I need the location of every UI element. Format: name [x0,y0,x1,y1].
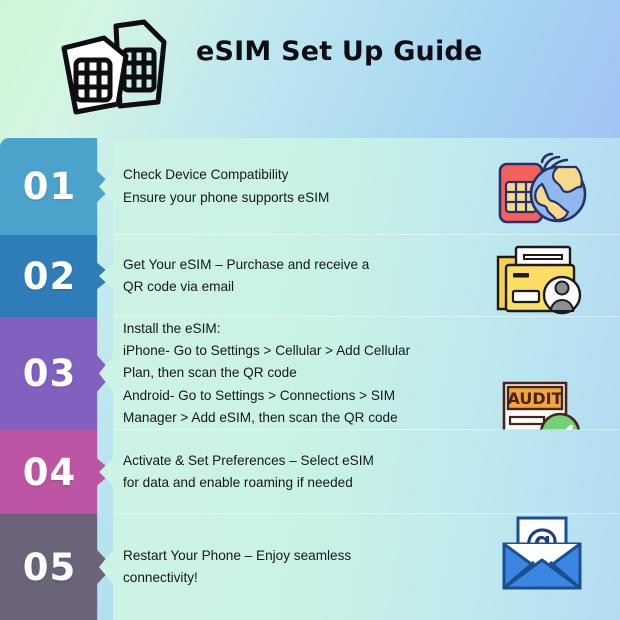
dual-sim-card-icon [42,16,182,116]
step-row-05: 05 Restart Your Phone – Enjoy seamless c… [0,514,620,620]
audit-label: AUDIT [507,389,562,408]
step-badge-04[interactable]: 04 [0,430,113,514]
step-text-03: Install the eSIM: iPhone- Go to Settings… [99,318,530,428]
page-title: eSIM Set Up Guide [196,36,596,67]
email-envelope-at-icon: @ [494,510,590,594]
step-row-02: 02 Get Your eSIM – Purchase and receive … [0,235,620,317]
step-badge-02[interactable]: 02 [0,235,113,317]
step-number-03: 03 [23,352,77,395]
step-badge-01[interactable]: 01 [0,138,113,235]
step-number-02: 02 [23,255,77,298]
step-text-04: Activate & Set Preferences – Select eSIM… [99,450,494,494]
steps-list: 01 Check Device Compatibility Ensure you… [0,138,620,620]
poster-header: eSIM Set Up Guide [0,0,620,132]
step-panel-04: Activate & Set Preferences – Select eSIM… [99,430,620,514]
step-number-04: 04 [23,451,77,494]
step-number-01: 01 [23,165,77,208]
step-row-04: 04 Activate & Set Preferences – Select e… [0,430,620,514]
step-text-02: Get Your eSIM – Purchase and receive a Q… [99,254,489,298]
step-row-01: 01 Check Device Compatibility Ensure you… [0,138,620,235]
step-badge-05[interactable]: 05 [0,514,113,620]
sim-card-globe-icon [494,146,590,230]
step-text-01: Check Device Compatibility Ensure your p… [99,164,449,208]
step-number-05: 05 [23,546,77,589]
step-row-03: 03 Install the eSIM: iPhone- Go to Setti… [0,317,620,430]
step-text-05: Restart Your Phone – Enjoy seamless conn… [99,545,471,589]
folder-document-user-icon [494,233,590,317]
infographic-poster: eSIM Set Up Guide 01 Check Device Compat… [0,0,620,620]
step-badge-03[interactable]: 03 [0,317,113,430]
